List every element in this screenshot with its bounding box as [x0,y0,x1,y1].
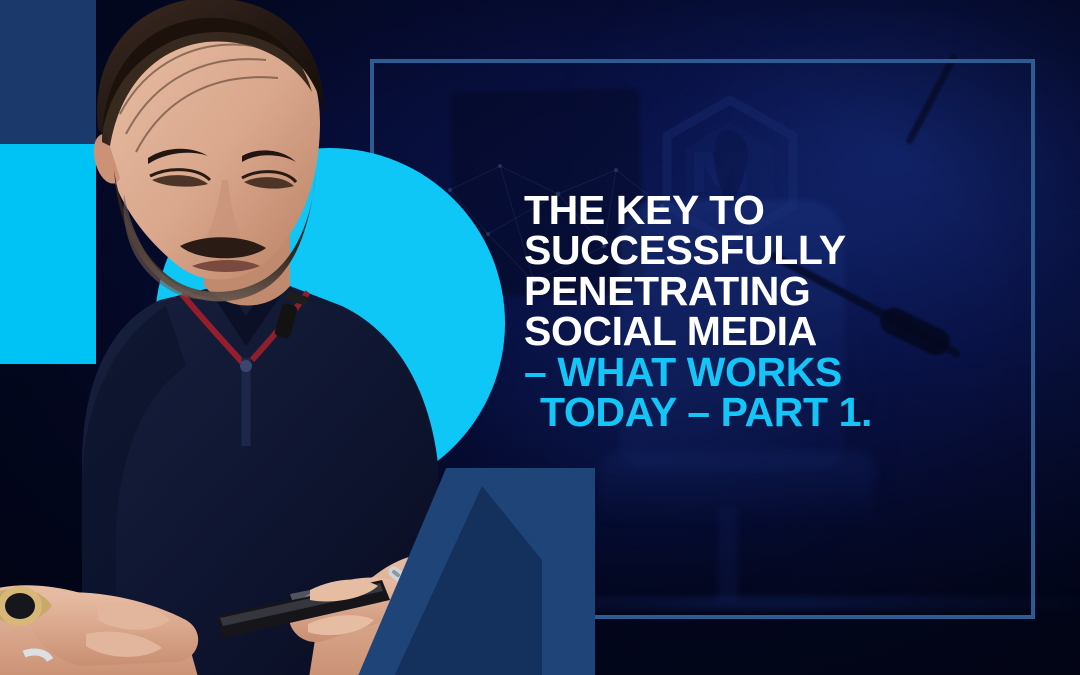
headline-line-2: SUCCESSFULLY [524,230,994,270]
person-photo-cutout [0,0,460,675]
page-title: THE KEY TO SUCCESSFULLY PENETRATING SOCI… [524,190,994,432]
headline-line-1: THE KEY TO [524,190,994,230]
headline-line-6: TODAY – PART 1. [524,392,994,432]
equipment-rack [1040,210,1080,510]
thumbnail-canvas: THE KEY TO SUCCESSFULLY PENETRATING SOCI… [0,0,1080,675]
headline-line-3: PENETRATING [524,271,994,311]
office-chair-post [718,508,738,603]
headline-line-4: SOCIAL MEDIA [524,311,994,351]
frame-border-top [370,59,1035,63]
headline-line-5: – WHAT WORKS [524,352,994,392]
frame-border-right [1031,59,1035,619]
